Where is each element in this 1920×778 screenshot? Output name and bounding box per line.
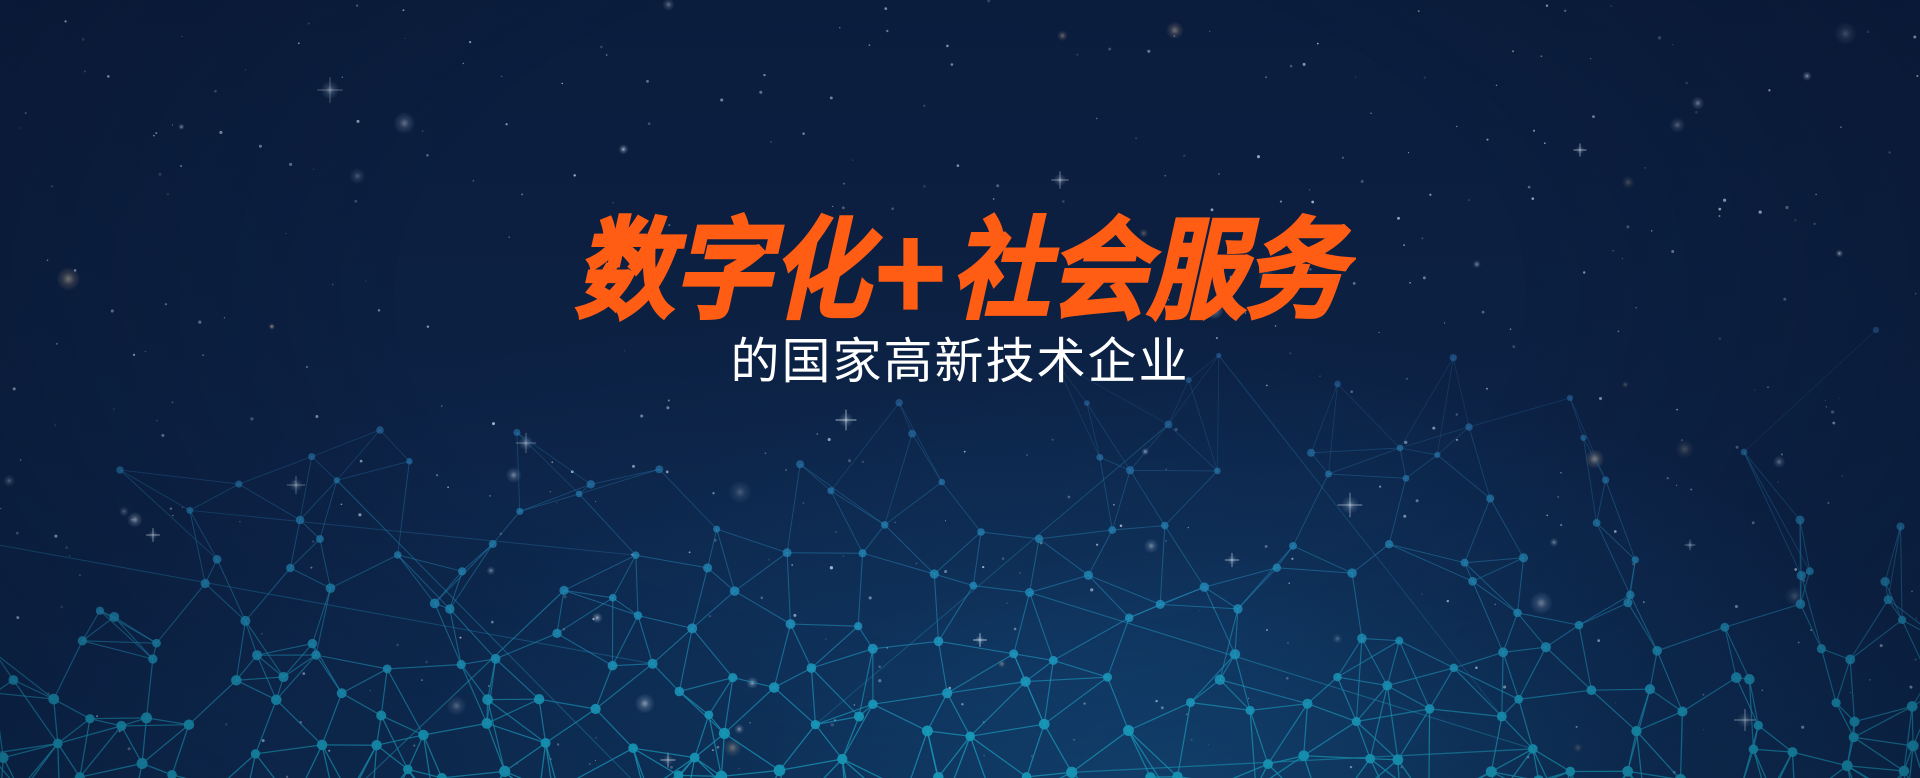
page-subtitle: 的国家高新技术企业 [0,337,1920,386]
page-title: 数字化+社会服务 [0,216,1920,325]
banner-hero: 数字化+社会服务 的国家高新技术企业 [0,0,1920,778]
